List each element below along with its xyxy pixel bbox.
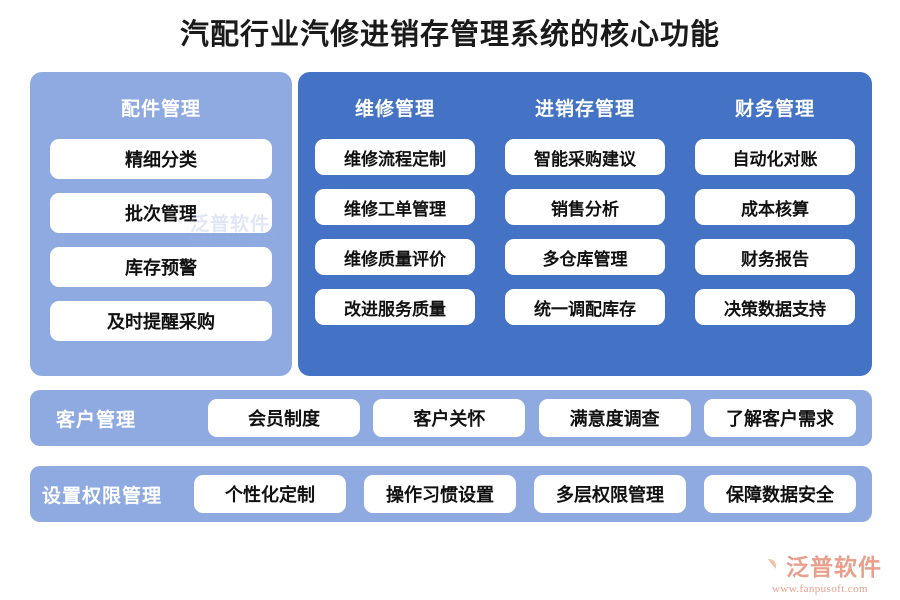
feature-card[interactable]: 及时提醒采购 (50, 301, 272, 341)
bar-permission-settings: 设置权限管理 个性化定制 操作习惯设置 多层权限管理 保障数据安全 (30, 466, 872, 522)
feature-card[interactable]: 多层权限管理 (534, 475, 686, 513)
parts-card-list: 精细分类 批次管理 库存预警 及时提醒采购 (50, 139, 272, 341)
page-title: 汽配行业汽修进销存管理系统的核心功能 (0, 16, 900, 54)
panel-parts-management: 配件管理 精细分类 批次管理 库存预警 及时提醒采购 (30, 72, 292, 376)
feature-card[interactable]: 精细分类 (50, 139, 272, 179)
feature-card[interactable]: 销售分析 (505, 189, 665, 225)
column-heading-inventory: 进销存管理 (505, 94, 665, 121)
infographic-page: 汽配行业汽修进销存管理系统的核心功能 配件管理 精细分类 批次管理 库存预警 及… (0, 0, 900, 600)
feature-card[interactable]: 财务报告 (695, 239, 855, 275)
logo-url: www.fanpusoft.com (756, 583, 884, 595)
inventory-card-list: 智能采购建议 销售分析 多仓库管理 统一调配库存 (505, 139, 665, 325)
feature-card[interactable]: 自动化对账 (695, 139, 855, 175)
feature-card[interactable]: 个性化定制 (194, 475, 346, 513)
feature-card[interactable]: 决策数据支持 (695, 289, 855, 325)
feature-card[interactable]: 客户关怀 (373, 399, 525, 437)
feature-card[interactable]: 批次管理 (50, 193, 272, 233)
feature-card[interactable]: 改进服务质量 (315, 289, 475, 325)
column-finance-management: 财务管理 自动化对账 成本核算 财务报告 决策数据支持 (695, 94, 855, 325)
repair-card-list: 维修流程定制 维修工单管理 维修质量评价 改进服务质量 (315, 139, 475, 325)
logo-row: 泛普软件 (756, 548, 886, 582)
feature-card[interactable]: 会员制度 (208, 399, 360, 437)
panel-heading-parts: 配件管理 (30, 94, 292, 121)
feature-card[interactable]: 维修质量评价 (315, 239, 475, 275)
feature-card[interactable]: 成本核算 (695, 189, 855, 225)
column-repair-management: 维修管理 维修流程定制 维修工单管理 维修质量评价 改进服务质量 (315, 94, 475, 325)
finance-card-list: 自动化对账 成本核算 财务报告 决策数据支持 (695, 139, 855, 325)
feature-card[interactable]: 保障数据安全 (704, 475, 856, 513)
brand-logo: 泛普软件 www.fanpusoft.com (756, 548, 886, 592)
settings-card-list: 个性化定制 操作习惯设置 多层权限管理 保障数据安全 (194, 475, 872, 513)
bar-label-customer: 客户管理 (30, 405, 208, 432)
column-inventory-management: 进销存管理 智能采购建议 销售分析 多仓库管理 统一调配库存 (505, 94, 665, 325)
feature-card[interactable]: 了解客户需求 (704, 399, 856, 437)
column-heading-finance: 财务管理 (695, 94, 855, 121)
feature-card[interactable]: 多仓库管理 (505, 239, 665, 275)
column-heading-repair: 维修管理 (315, 94, 475, 121)
feature-card[interactable]: 维修流程定制 (315, 139, 475, 175)
feature-card[interactable]: 统一调配库存 (505, 289, 665, 325)
bar-customer-management: 客户管理 会员制度 客户关怀 满意度调查 了解客户需求 (30, 390, 872, 446)
customer-card-list: 会员制度 客户关怀 满意度调查 了解客户需求 (208, 399, 872, 437)
logo-name: 泛普软件 (786, 548, 882, 582)
feature-card[interactable]: 库存预警 (50, 247, 272, 287)
fanpu-logo-icon (756, 552, 782, 578)
feature-card[interactable]: 满意度调查 (539, 399, 691, 437)
feature-card[interactable]: 操作习惯设置 (364, 475, 516, 513)
bar-label-settings: 设置权限管理 (30, 481, 194, 508)
operations-columns: 维修管理 维修流程定制 维修工单管理 维修质量评价 改进服务质量 进销存管理 智… (298, 72, 872, 325)
feature-card[interactable]: 智能采购建议 (505, 139, 665, 175)
panel-operations: 维修管理 维修流程定制 维修工单管理 维修质量评价 改进服务质量 进销存管理 智… (298, 72, 872, 376)
feature-card[interactable]: 维修工单管理 (315, 189, 475, 225)
